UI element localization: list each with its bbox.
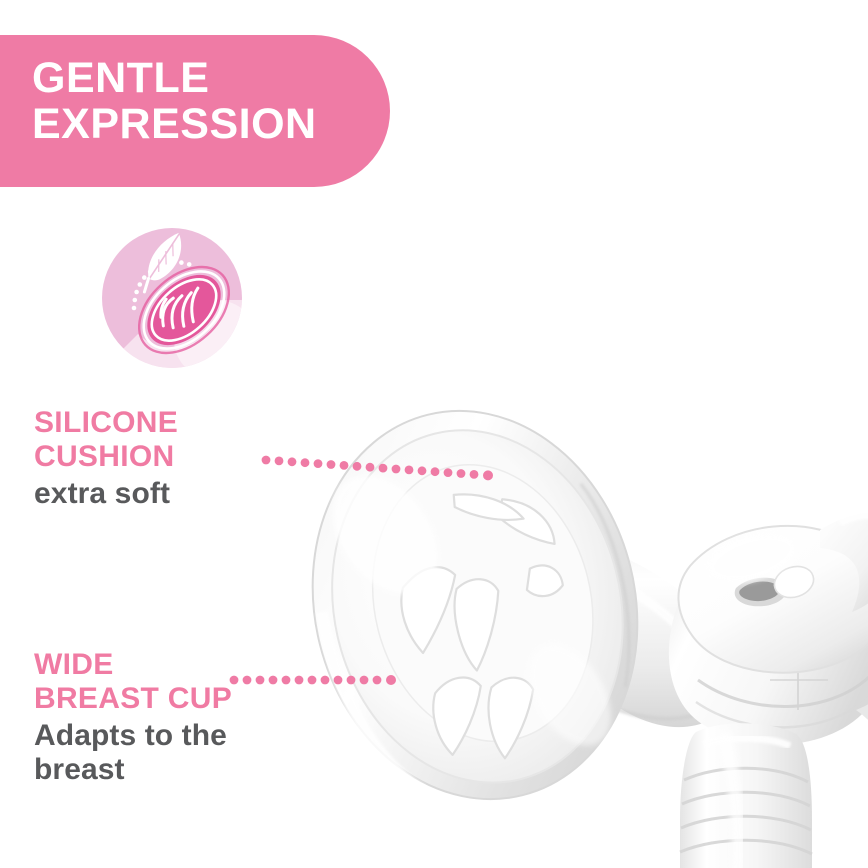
gentle-expression-banner: GENTLE EXPRESSION — [0, 35, 390, 187]
leader-line-wide-breast-cup — [230, 664, 420, 698]
callout-title-wide-breast-cup: WIDE BREAST CUP — [34, 648, 232, 715]
callout-subtitle-wide-breast-cup: Adapts to the breast — [34, 719, 232, 787]
banner-title: GENTLE EXPRESSION — [32, 55, 390, 148]
infographic-canvas: GENTLE EXPRESSION — [0, 0, 868, 868]
callout-silicone-cushion: SILICONE CUSHION extra soft — [34, 406, 178, 511]
silicone-cushion-leaf-icon — [96, 222, 248, 374]
callout-wide-breast-cup: WIDE BREAST CUP Adapts to the breast — [34, 648, 232, 788]
leader-line-silicone-cushion — [262, 448, 512, 494]
callout-title-silicone-cushion: SILICONE CUSHION — [34, 406, 178, 473]
bottle-neck-threads — [680, 723, 812, 868]
callout-subtitle-silicone-cushion: extra soft — [34, 477, 178, 511]
